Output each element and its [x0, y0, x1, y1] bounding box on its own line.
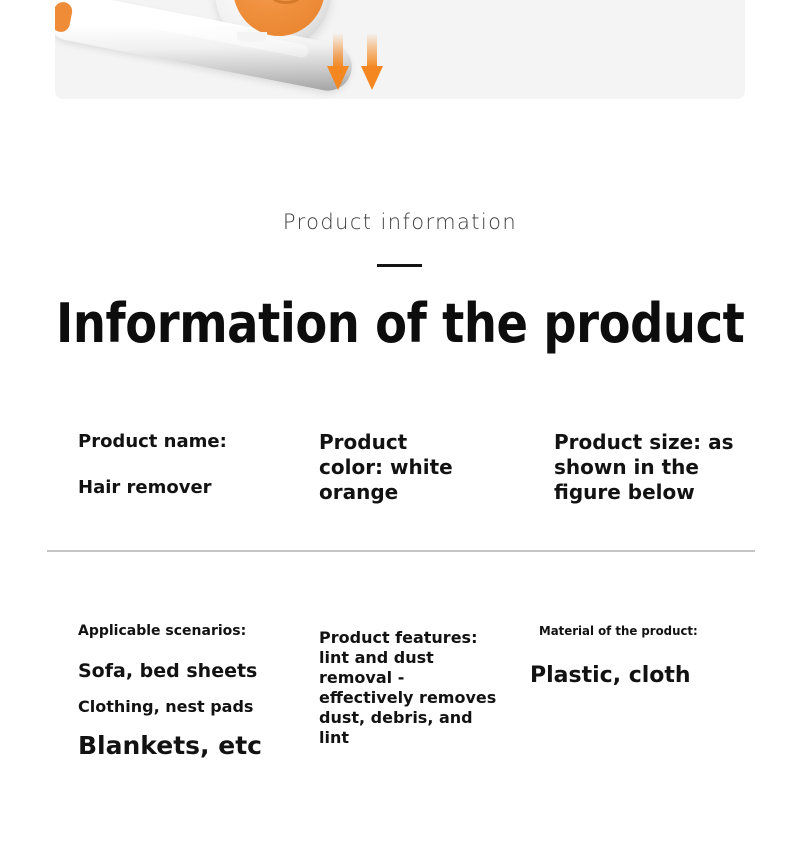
- spec-row-one: Product name: Hair remover Product color…: [0, 430, 800, 530]
- spec-product-name: Product name: Hair remover: [78, 430, 227, 500]
- spec-value-line: Blankets, etc: [78, 730, 262, 762]
- product-photo-panel: [55, 0, 745, 99]
- spec-material: Material of the product: Plastic, cloth: [539, 622, 708, 690]
- spec-value-line: Sofa, bed sheets: [78, 659, 262, 684]
- arrow-head: [361, 66, 383, 90]
- spec-text: Product size: as shown in the figure bel…: [554, 430, 764, 505]
- spec-product-color: Product color: white orange: [319, 430, 469, 505]
- arrow-head: [327, 66, 349, 90]
- arrow-shaft: [333, 34, 343, 68]
- arrow-shaft: [367, 34, 377, 68]
- spec-row-two: Applicable scenarios: Sofa, bed sheets C…: [0, 622, 800, 782]
- down-arrow-icon: [361, 34, 383, 90]
- page-title: Information of the product: [56, 292, 744, 355]
- spec-value: Hair remover: [78, 476, 227, 500]
- spec-label: Product name:: [78, 430, 227, 454]
- spec-label: Applicable scenarios:: [78, 622, 262, 641]
- spec-value-line: Clothing, nest pads: [78, 696, 262, 718]
- section-rule: [377, 264, 422, 267]
- section-divider: [47, 550, 755, 552]
- spec-label: Material of the product:: [539, 622, 698, 640]
- spec-product-size: Product size: as shown in the figure bel…: [554, 430, 764, 505]
- down-arrow-icon: [327, 34, 349, 90]
- spec-text: Product color: white orange: [319, 430, 469, 505]
- spec-product-features: Product features: lint and dust removal …: [319, 628, 504, 748]
- direction-arrows-group: [327, 34, 389, 92]
- section-eyebrow: Product information: [0, 210, 800, 234]
- spec-value: Plastic, cloth: [530, 662, 708, 690]
- roller-notch: [237, 32, 267, 42]
- spec-text: Product features: lint and dust removal …: [319, 628, 504, 748]
- spec-applicable-scenarios: Applicable scenarios: Sofa, bed sheets C…: [78, 622, 262, 762]
